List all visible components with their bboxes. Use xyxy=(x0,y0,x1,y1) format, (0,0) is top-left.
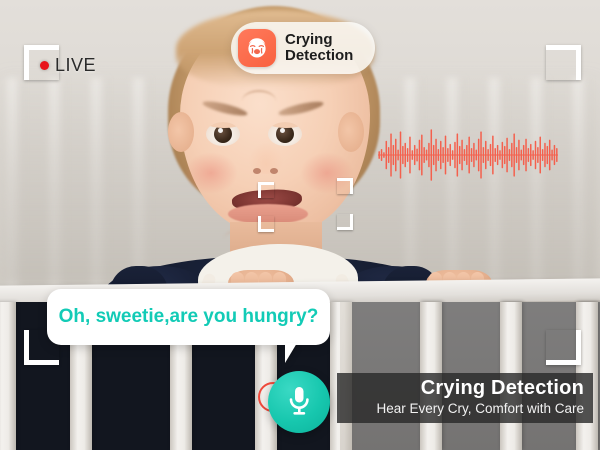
crying-detection-badge[interactable]: Crying Detection xyxy=(231,22,375,74)
crying-baby-face-icon xyxy=(238,29,276,67)
live-label: LIVE xyxy=(55,55,96,76)
audio-waveform xyxy=(378,128,558,182)
badge-line-2: Detection xyxy=(285,47,353,64)
live-indicator: LIVE xyxy=(40,55,96,76)
baby-cheek-left xyxy=(184,152,238,194)
live-record-dot-icon xyxy=(40,61,49,70)
focus-bracket-bottom-right xyxy=(337,214,353,230)
speech-bubble: Oh, sweetie,are you hungry? xyxy=(47,289,330,345)
feature-info-panel: Crying Detection Hear Every Cry, Comfort… xyxy=(337,373,593,423)
baby-eye-left xyxy=(206,122,240,146)
speech-bubble-tail xyxy=(285,343,297,363)
frame-corner-bottom-right xyxy=(546,330,581,365)
baby-ear-left xyxy=(168,112,194,152)
feature-title: Crying Detection xyxy=(421,378,584,399)
focus-bracket-top-right xyxy=(337,178,353,194)
talk-back-mic-button[interactable] xyxy=(268,371,330,433)
baby-brow-wrinkle xyxy=(242,90,276,112)
baby-ear-right xyxy=(338,112,364,152)
badge-line-1: Crying xyxy=(285,31,333,48)
speech-bubble-text: Oh, sweetie,are you hungry? xyxy=(59,306,319,328)
baby-monitor-screen: LIVE Crying Detection Oh, sweetie,are yo… xyxy=(0,0,600,450)
microphone-icon xyxy=(286,385,312,419)
focus-bracket-top-left xyxy=(258,182,274,198)
frame-corner-top-right xyxy=(546,45,581,80)
focus-bracket-bottom-left xyxy=(258,216,274,232)
baby-nose xyxy=(248,142,284,174)
crying-detection-badge-label: Crying Detection xyxy=(285,32,353,64)
feature-subtitle: Hear Every Cry, Comfort with Care xyxy=(376,401,584,417)
